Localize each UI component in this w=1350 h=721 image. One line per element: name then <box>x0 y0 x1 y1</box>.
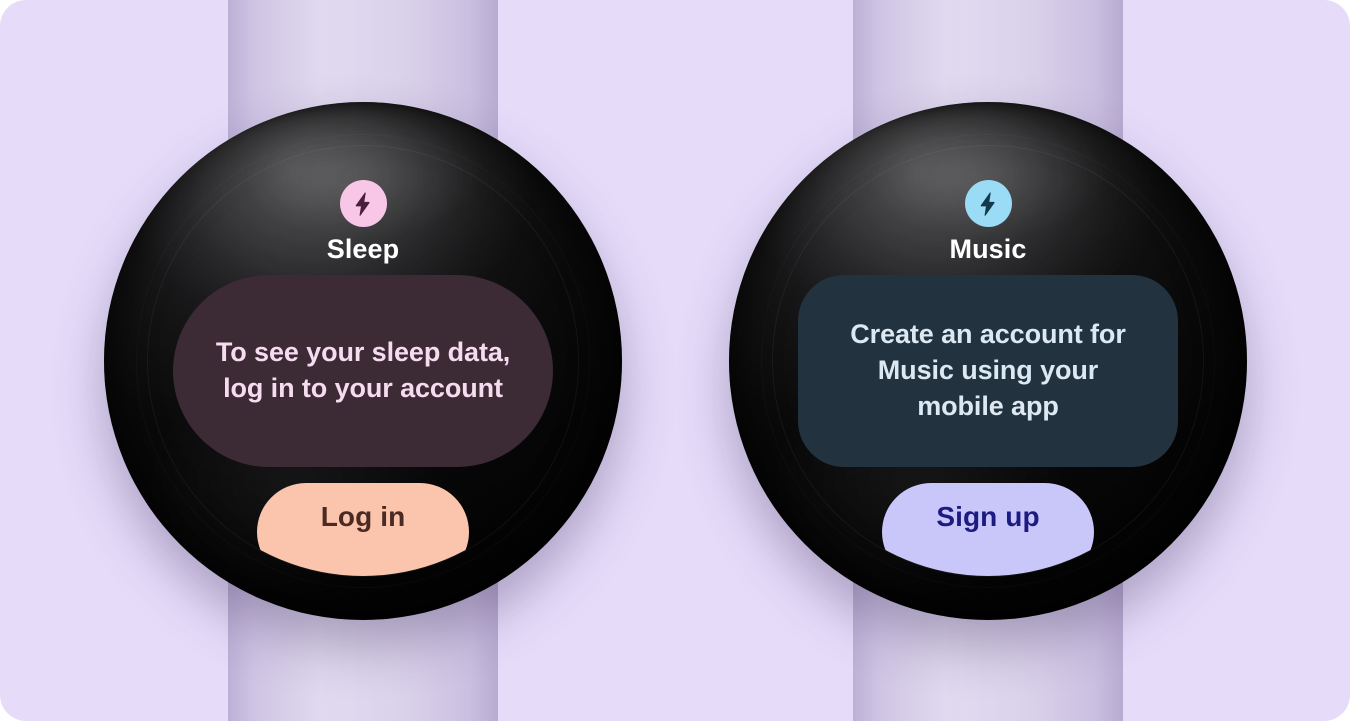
app-badge-music <box>965 180 1012 227</box>
message-text: To see your sleep data, log in to your a… <box>207 335 519 407</box>
page-canvas: Sleep To see your sleep data, log in to … <box>0 0 1350 721</box>
app-title-music: Music <box>949 235 1026 263</box>
app-title-sleep: Sleep <box>327 235 400 263</box>
sign-up-button[interactable]: Sign up <box>882 483 1094 576</box>
message-card-sleep: To see your sleep data, log in to your a… <box>173 275 553 467</box>
app-badge-sleep <box>340 180 387 227</box>
message-text: Create an account for Music using your m… <box>832 317 1144 425</box>
lightning-bolt-icon <box>350 191 376 217</box>
watch-sleep: Sleep To see your sleep data, log in to … <box>98 0 628 721</box>
log-in-button[interactable]: Log in <box>257 483 469 576</box>
lightning-bolt-icon <box>975 191 1001 217</box>
watch-screen-music: Music Create an account for Music using … <box>773 146 1203 576</box>
watch-screen-sleep: Sleep To see your sleep data, log in to … <box>148 146 578 576</box>
watch-case-wrapper: Music Create an account for Music using … <box>729 102 1247 620</box>
watch-case-wrapper: Sleep To see your sleep data, log in to … <box>104 102 622 620</box>
message-card-music: Create an account for Music using your m… <box>798 275 1178 467</box>
watch-music: Music Create an account for Music using … <box>723 0 1253 721</box>
